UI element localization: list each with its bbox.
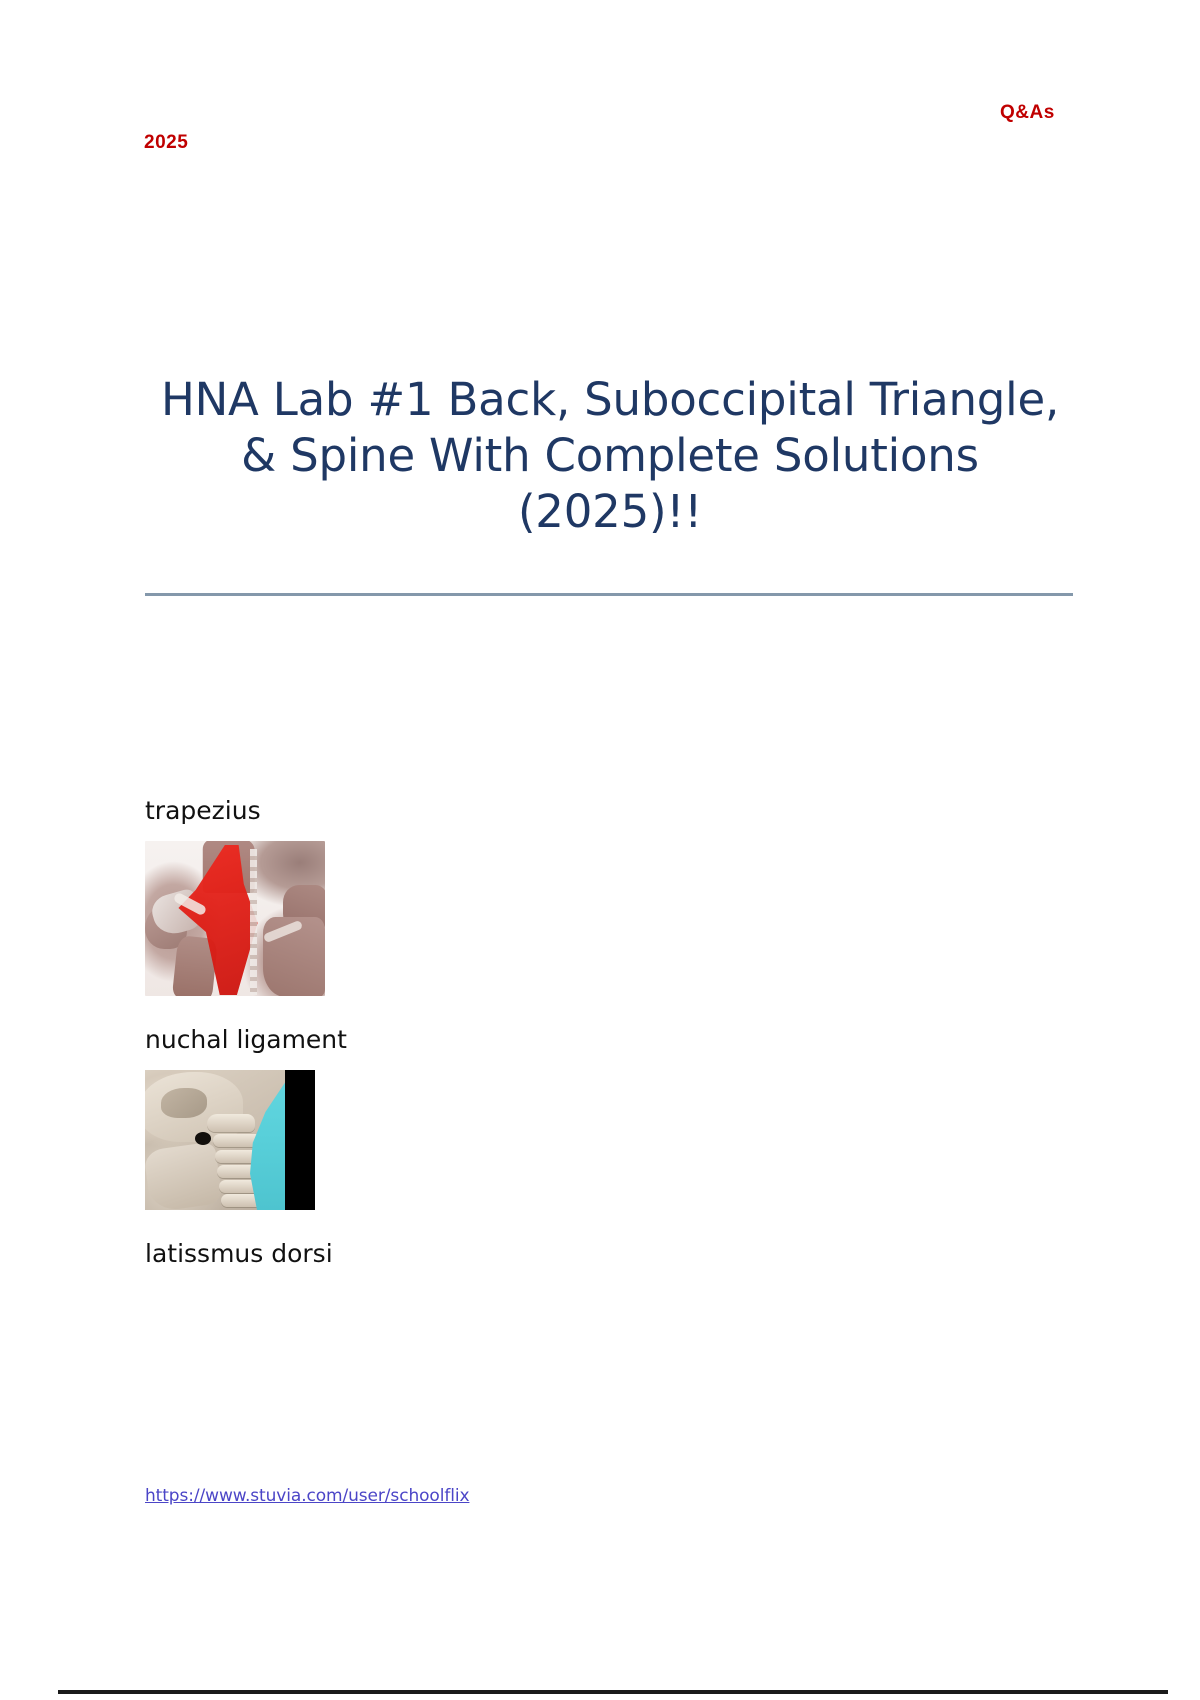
document-page: 2025 Q&As HNA Lab #1 Back, Suboccipital …	[0, 0, 1200, 1700]
image-black-background	[285, 1070, 315, 1210]
content-body: trapezius nuchal ligament	[145, 795, 1065, 1284]
page-title: HNA Lab #1 Back, Suboccipital Triangle, …	[145, 372, 1075, 540]
term-label-nuchal-ligament: nuchal ligament	[145, 1024, 1065, 1056]
header-year-badge: 2025	[144, 132, 188, 154]
profile-link[interactable]: https://www.stuvia.com/user/schoolflix	[145, 1486, 469, 1506]
mandible-shape	[145, 1141, 223, 1210]
page-header: 2025 Q&As	[0, 96, 1200, 176]
header-qas-badge: Q&As	[1000, 102, 1055, 124]
trapezius-muscle-illustration	[145, 841, 325, 996]
footer-divider	[58, 1690, 1168, 1694]
spinous-processes-shape	[250, 849, 257, 995]
vertebra-c1-shape	[207, 1114, 255, 1132]
skull-shadow-shape	[161, 1088, 207, 1118]
title-block: HNA Lab #1 Back, Suboccipital Triangle, …	[145, 372, 1075, 540]
title-divider	[145, 593, 1073, 596]
term-label-latissmus-dorsi: latissmus dorsi	[145, 1238, 1065, 1270]
foramen-shape	[195, 1132, 211, 1145]
nuchal-ligament-cervical-spine-illustration	[145, 1070, 315, 1210]
term-label-trapezius: trapezius	[145, 795, 1065, 827]
vertebra-c2-shape	[213, 1134, 259, 1147]
